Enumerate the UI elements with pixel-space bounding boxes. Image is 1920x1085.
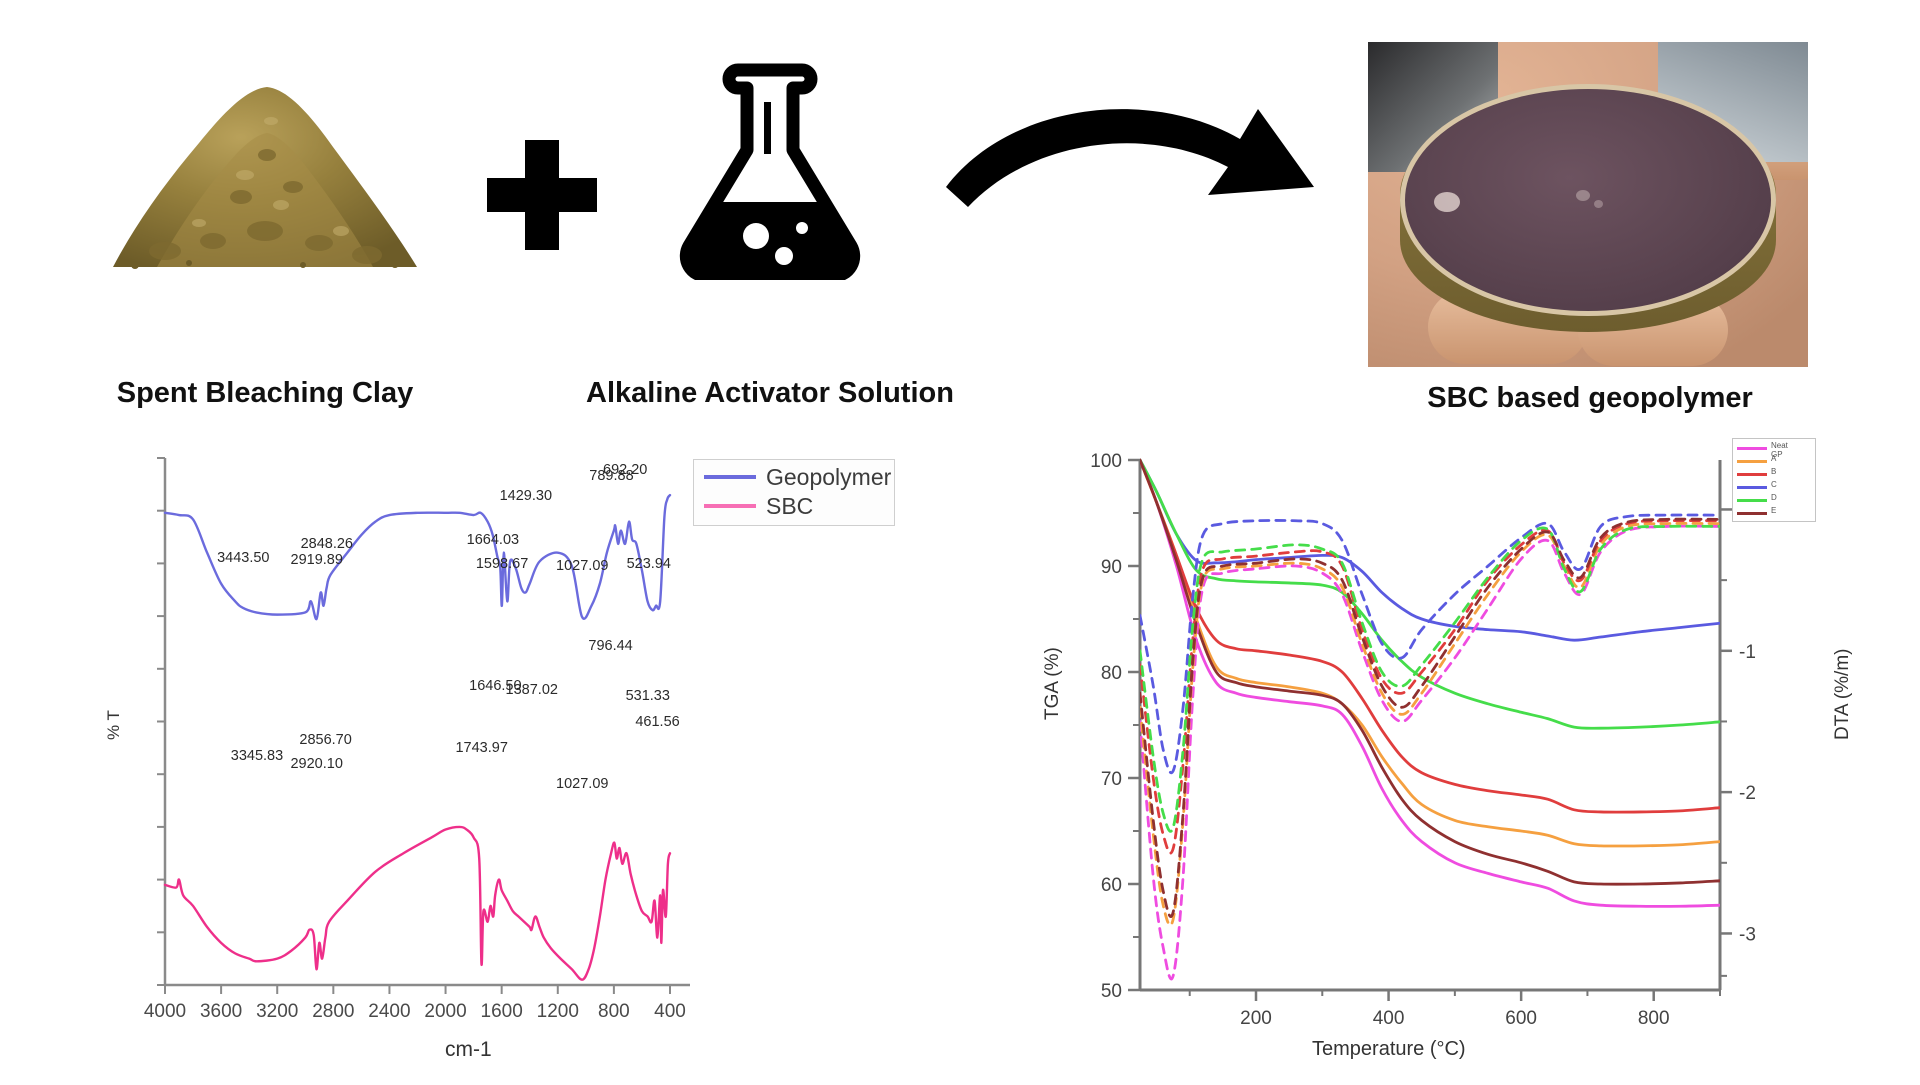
ftir-peak-label: 1664.03 xyxy=(467,532,519,548)
curved-arrow-icon xyxy=(940,95,1340,225)
ftir-peak-label: 2919.89 xyxy=(291,552,343,568)
ftir-peak-label: 531.33 xyxy=(626,688,670,704)
ftir-peak-label: 523.94 xyxy=(627,556,671,572)
legend-swatch-geopolymer xyxy=(704,475,756,479)
ftir-peak-label: 2848.26 xyxy=(301,536,353,552)
svg-text:-2: -2 xyxy=(1739,783,1756,804)
ftir-peak-label: 1598.67 xyxy=(476,556,528,572)
svg-text:4000: 4000 xyxy=(144,1001,186,1022)
legend-label: D xyxy=(1771,493,1777,502)
legend-label: B xyxy=(1771,467,1776,476)
tga-legend: Neat GPABCDE xyxy=(1732,438,1816,522)
legend-label: A xyxy=(1771,454,1776,463)
legend-swatch xyxy=(1737,447,1767,450)
ftir-peak-label: 1743.97 xyxy=(455,740,507,756)
tga-dta-chart: 50607080901000-1-2-3200400600800 Neat GP… xyxy=(1020,430,1880,1080)
svg-text:3600: 3600 xyxy=(200,1001,242,1022)
ftir-peak-label: 1429.30 xyxy=(500,488,552,504)
legend-swatch xyxy=(1737,499,1767,502)
plus-sign-icon xyxy=(487,140,597,250)
geopolymer-disc-photo xyxy=(1368,42,1808,367)
step-label-sbc-based-geopolymer: SBC based geopolymer xyxy=(1360,382,1820,415)
legend-swatch xyxy=(1737,486,1767,489)
step-label-spent-bleaching-clay: Spent Bleaching Clay xyxy=(75,377,455,410)
ftir-peak-label: 3443.50 xyxy=(217,550,269,566)
legend-label-sbc: SBC xyxy=(766,493,813,520)
svg-text:90: 90 xyxy=(1101,557,1122,578)
svg-text:2800: 2800 xyxy=(312,1001,354,1022)
svg-text:70: 70 xyxy=(1101,769,1122,790)
svg-text:800: 800 xyxy=(1638,1008,1670,1029)
ftir-peak-label: 692.20 xyxy=(603,462,647,478)
svg-text:600: 600 xyxy=(1505,1008,1537,1029)
ftir-peak-label: 2920.10 xyxy=(290,756,342,772)
tga-y2-axis-title: DTA (%/m) xyxy=(1832,649,1854,740)
svg-text:60: 60 xyxy=(1101,875,1122,896)
legend-label: C xyxy=(1771,480,1777,489)
legend-label: E xyxy=(1771,506,1776,515)
svg-text:-3: -3 xyxy=(1739,924,1756,945)
ftir-peak-label: 1387.02 xyxy=(506,682,558,698)
step-label-alkaline-activator-solution: Alkaline Activator Solution xyxy=(540,377,1000,410)
process-flow-diagram: Spent Bleaching Clay Alkaline Activator … xyxy=(0,0,1920,420)
legend-swatch xyxy=(1737,473,1767,476)
legend-swatch xyxy=(1737,512,1767,515)
svg-text:80: 80 xyxy=(1101,663,1122,684)
ftir-peak-label: 3345.83 xyxy=(231,748,283,764)
svg-text:50: 50 xyxy=(1101,981,1122,1002)
svg-text:800: 800 xyxy=(598,1001,630,1022)
erlenmeyer-flask-icon xyxy=(660,60,880,280)
svg-text:100: 100 xyxy=(1090,451,1122,472)
ftir-spectrum-chart: 40003600320028002400200016001200800400 G… xyxy=(110,440,930,1080)
svg-text:3200: 3200 xyxy=(256,1001,298,1022)
tga-x-axis-title: Temperature (°C) xyxy=(1312,1038,1466,1061)
ftir-peak-label: 461.56 xyxy=(635,714,679,730)
svg-text:1200: 1200 xyxy=(537,1001,579,1022)
ftir-legend: Geopolymer SBC xyxy=(693,459,895,526)
svg-text:400: 400 xyxy=(1373,1008,1405,1029)
legend-swatch xyxy=(1737,460,1767,463)
svg-text:1600: 1600 xyxy=(481,1001,523,1022)
svg-text:2000: 2000 xyxy=(424,1001,466,1022)
clay-powder-photo xyxy=(95,55,435,275)
ftir-peak-label: 1027.09 xyxy=(556,558,608,574)
ftir-peak-label: 796.44 xyxy=(588,638,632,654)
tga-plot-area: 50607080901000-1-2-3200400600800 xyxy=(1020,430,1880,1080)
legend-swatch-sbc xyxy=(704,504,756,508)
ftir-peak-label: 1027.09 xyxy=(556,776,608,792)
ftir-peak-label: 2856.70 xyxy=(299,732,351,748)
svg-text:-1: -1 xyxy=(1739,642,1756,663)
legend-label-geopolymer: Geopolymer xyxy=(766,464,891,491)
tga-y-axis-title: TGA (%) xyxy=(1042,647,1064,720)
svg-text:200: 200 xyxy=(1240,1008,1272,1029)
svg-text:400: 400 xyxy=(654,1001,686,1022)
ftir-y-axis-title: % T xyxy=(104,710,124,740)
svg-text:2400: 2400 xyxy=(368,1001,410,1022)
ftir-x-axis-title: cm-1 xyxy=(445,1038,492,1062)
